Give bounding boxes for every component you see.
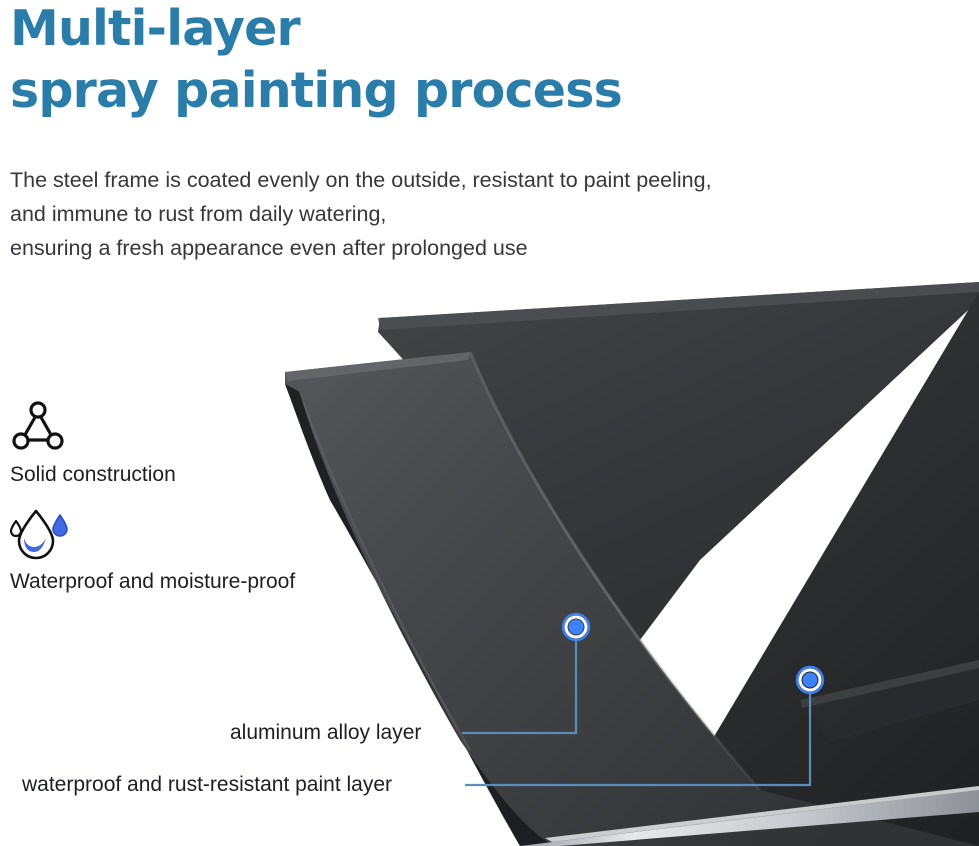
description-line-2: and immune to rust from daily watering, bbox=[10, 197, 930, 231]
feature-label-waterproof: Waterproof and moisture-proof bbox=[10, 569, 295, 595]
description-paragraph: The steel frame is coated evenly on the … bbox=[10, 163, 930, 265]
structure-nodes-icon bbox=[10, 398, 66, 454]
infographic-page: Multi-layer spray painting process The s… bbox=[0, 0, 979, 846]
feature-label-solid-construction: Solid construction bbox=[10, 462, 176, 488]
callout-label-paint-layer: waterproof and rust-resistant paint laye… bbox=[22, 772, 392, 798]
title-line-1: Multi-layer bbox=[10, 0, 770, 60]
callout-label-aluminum-alloy-layer: aluminum alloy layer bbox=[230, 720, 421, 746]
title-line-2: spray painting process bbox=[10, 60, 770, 122]
feature-solid-construction: Solid construction bbox=[10, 398, 176, 488]
water-droplet-icon bbox=[10, 505, 70, 561]
description-line-3: ensuring a fresh appearance even after p… bbox=[10, 231, 930, 265]
description-line-1: The steel frame is coated evenly on the … bbox=[10, 163, 930, 197]
page-title: Multi-layer spray painting process bbox=[10, 0, 770, 122]
feature-waterproof: Waterproof and moisture-proof bbox=[10, 505, 295, 595]
